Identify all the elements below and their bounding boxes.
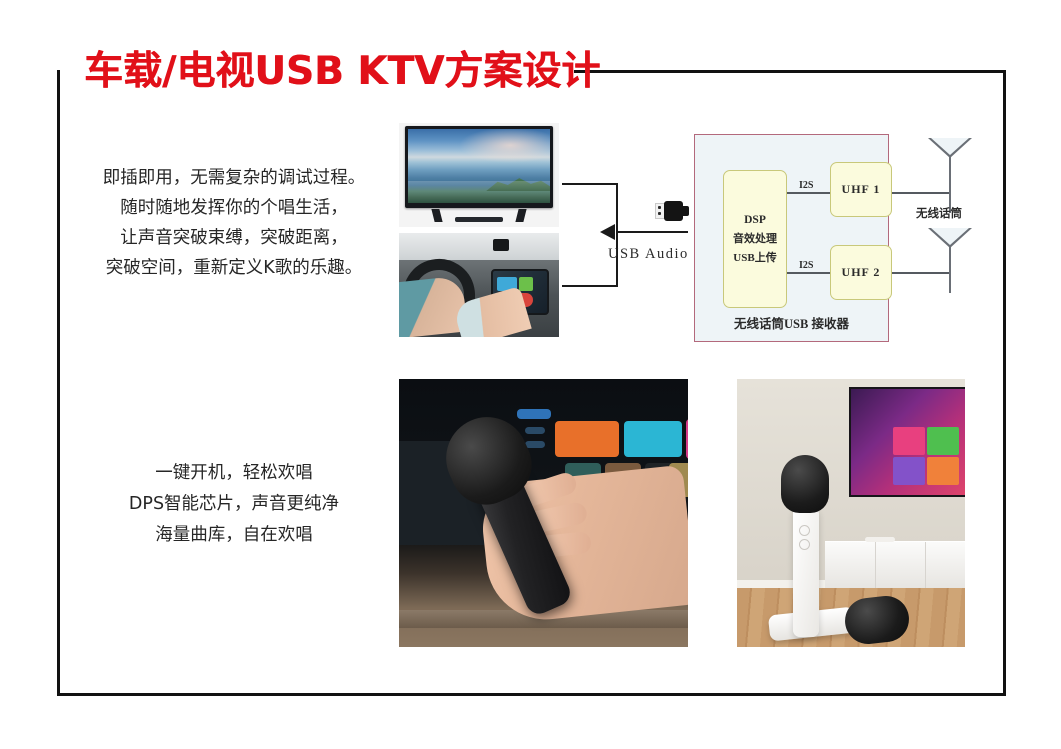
- ui-tile: [525, 441, 545, 448]
- cabinet-divider: [925, 542, 926, 588]
- tv-leg-right: [515, 209, 526, 222]
- feature-line-3: 海量曲库，自在欢唱: [74, 520, 394, 551]
- antenna-stem: [949, 247, 951, 293]
- usb-plug-cable: [682, 206, 689, 216]
- tv-app-tile: [893, 457, 925, 485]
- ui-tile: [517, 409, 551, 419]
- usb-plug-shell: [664, 201, 683, 221]
- dsp-block: DSP 音效处理 USB上传: [723, 170, 787, 308]
- antenna-icon-1: [928, 138, 972, 172]
- tv-app-tile: [927, 457, 959, 485]
- receiver-caption: 无线话筒USB 接收器: [694, 313, 889, 332]
- uhf1-label: UHF 1: [842, 182, 881, 197]
- uhf1-block: UHF 1: [830, 162, 892, 217]
- intro-line-3: 让声音突破束缚，突破距离，: [74, 223, 394, 253]
- intro-text-block: 即插即用，无需复杂的调试过程。 随时随地发挥你的个唱生活， 让声音突破束缚，突破…: [74, 163, 394, 283]
- usb-audio-label: USB Audio: [608, 246, 689, 263]
- usb-connector-icon: [653, 200, 689, 222]
- tv-photo: [399, 123, 559, 227]
- microphone-1-foam-head: [781, 455, 829, 513]
- car-interior-photo: [399, 233, 559, 337]
- feature-line-2: DPS智能芯片，声音更纯净: [74, 489, 394, 520]
- ui-tile: [525, 427, 545, 434]
- ui-tile: [686, 419, 688, 459]
- diagram-link-dsp-uhf2: [787, 272, 830, 274]
- tv-screen: [408, 129, 550, 203]
- frame-bottom-border: [57, 693, 1006, 696]
- wireless-mic-label: 无线话筒: [916, 205, 962, 221]
- car-windshield: [399, 233, 559, 260]
- frame-top-border: [574, 70, 1006, 73]
- intro-line-1: 即插即用，无需复杂的调试过程。: [74, 163, 394, 193]
- connector-line-to-receiver: [616, 231, 688, 233]
- mic-button: [799, 539, 810, 550]
- diagram-link-uhf1-antenna: [892, 192, 950, 194]
- mic-in-car-photo: [399, 379, 688, 647]
- dsp-label-line-1: DSP: [744, 211, 766, 230]
- feature-text-block: 一键开机，轻松欢唱 DPS智能芯片，声音更纯净 海量曲库，自在欢唱: [74, 458, 394, 551]
- tv-app-tile: [927, 427, 959, 455]
- tv-leg-left: [431, 209, 442, 222]
- mics-in-room-photo: [737, 379, 965, 647]
- ui-tile: [624, 421, 682, 457]
- ui-tile: [555, 421, 619, 457]
- i2s-label-1: I2S: [797, 180, 815, 191]
- connector-line-vertical: [616, 183, 618, 287]
- antenna-icon-2: [928, 228, 972, 262]
- slide-canvas: 车载/电视USB KTV方案设计 即插即用，无需复杂的调试过程。 随时随地发挥你…: [0, 0, 1061, 749]
- remote-control: [865, 537, 895, 542]
- car-dashcam: [493, 239, 509, 251]
- mic-button: [799, 525, 810, 536]
- tv-soundbar: [455, 217, 503, 222]
- tv-app-tile: [893, 427, 925, 455]
- tv-water-reflection: [408, 181, 550, 203]
- usb-plug-pin: [658, 212, 661, 215]
- uhf2-label: UHF 2: [842, 265, 881, 280]
- diagram-link-dsp-uhf1: [787, 192, 830, 194]
- car-screen-tile: [519, 277, 533, 291]
- wall-tv: [849, 387, 965, 497]
- antenna-triangle: [928, 138, 972, 158]
- tv-stand: [431, 208, 527, 222]
- dsp-label-line-2: 音效处理: [733, 230, 777, 249]
- arrow-left-icon: [600, 224, 615, 240]
- connector-line-tv: [562, 183, 618, 185]
- tv-bezel: [405, 126, 553, 208]
- connector-line-car: [562, 285, 618, 287]
- frame-right-border: [1003, 70, 1006, 696]
- page-title: 车载/电视USB KTV方案设计: [84, 40, 600, 96]
- uhf2-block: UHF 2: [830, 245, 892, 300]
- tv-cabinet: [825, 541, 965, 588]
- feature-line-1: 一键开机，轻松欢唱: [74, 458, 394, 489]
- frame-left-border: [57, 70, 60, 696]
- cabinet-divider: [875, 542, 876, 588]
- i2s-label-2: I2S: [797, 260, 815, 271]
- dsp-label-line-3: USB上传: [733, 249, 776, 268]
- intro-line-2: 随时随地发挥你的个唱生活，: [74, 193, 394, 223]
- usb-plug-pin: [658, 206, 661, 209]
- antenna-triangle: [928, 228, 972, 248]
- diagram-link-uhf2-antenna: [892, 272, 950, 274]
- intro-line-4: 突破空间，重新定义K歌的乐趣。: [74, 253, 394, 283]
